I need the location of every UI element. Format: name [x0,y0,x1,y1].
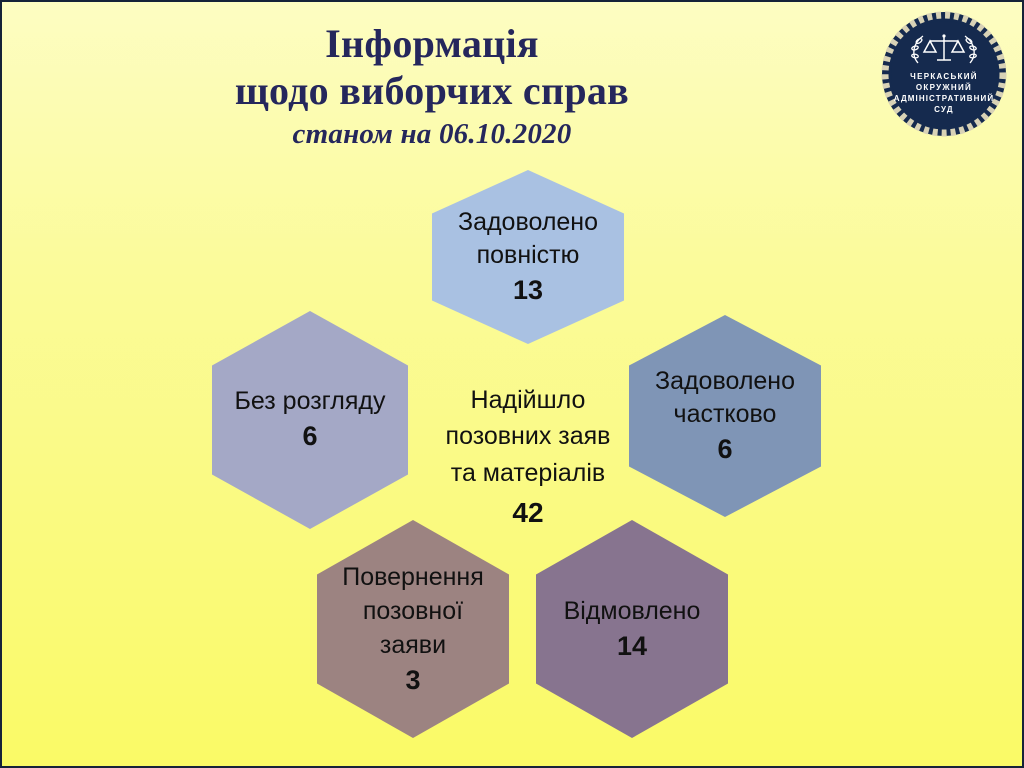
title-subtitle-date: станом на 06.10.2020 [2,116,862,152]
presentation-slide: Інформація щодо виборчих справ станом на… [0,0,1024,768]
hexagon-value-satisfied-fully: 13 [513,273,543,308]
hexagon-label-satisfied-fully: Задоволено повністю [450,206,606,272]
title-line-2: щодо виборчих справ [2,67,862,114]
court-emblem-logo: ЧЕРКАСЬКИЙ ОКРУЖНИЙ АДМІНІСТРАТИВНИЙ СУД [880,10,1008,138]
hexagon-satisfied-partially: Задоволено частково 6 [629,315,821,517]
hexagon-value-without-consideration: 6 [302,419,317,454]
hexagon-label-claim-returned: Повернення позовної заяви [334,560,492,662]
hexagon-satisfied-fully: Задоволено повністю 13 [432,170,624,344]
hexagon-label-without-consideration: Без розгляду [227,385,394,418]
logo-line-3: АДМІНІСТРАТИВНИЙ [894,94,994,103]
hexagon-label-satisfied-partially: Задоволено частково [647,365,803,431]
center-total-block: Надійшло позовних заяв та матеріалів 42 [414,382,642,532]
hexagon-without-consideration: Без розгляду 6 [212,311,408,529]
logo-line-2: ОКРУЖНИЙ [916,83,972,92]
page-title: Інформація щодо виборчих справ станом на… [2,20,862,153]
court-emblem-icon: ЧЕРКАСЬКИЙ ОКРУЖНИЙ АДМІНІСТРАТИВНИЙ СУД [880,10,1008,138]
hexagon-claim-returned: Повернення позовної заяви 3 [317,520,509,738]
title-line-1: Інформація [2,20,862,67]
center-total-value: 42 [414,493,642,532]
hexagon-label-refused: Відмовлено [556,594,709,628]
hexagon-refused: Відмовлено 14 [536,520,728,738]
hexagon-value-refused: 14 [617,629,647,664]
logo-line-4: СУД [934,105,954,114]
center-total-label: Надійшло позовних заяв та матеріалів [414,382,642,491]
logo-line-1: ЧЕРКАСЬКИЙ [910,72,978,81]
hexagon-value-claim-returned: 3 [405,663,420,698]
hexagon-value-satisfied-partially: 6 [717,432,732,467]
